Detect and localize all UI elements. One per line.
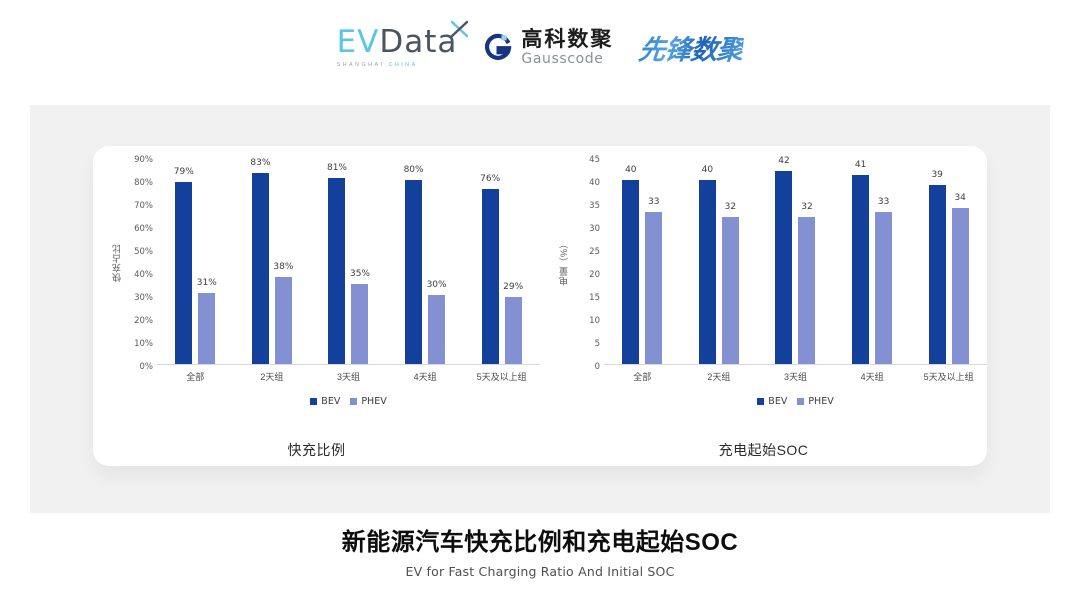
y-tick-label: 5 (595, 339, 600, 349)
bar-group: 3934 (910, 160, 987, 364)
footer-titles: 新能源汽车快充比例和充电起始SOC EV for Fast Charging R… (0, 528, 1080, 579)
bar-value-label: 33 (648, 197, 659, 207)
bar-group: 4133 (834, 160, 911, 364)
bar-bev[interactable]: 81% (328, 178, 345, 364)
legend-item-phev[interactable]: PHEV (797, 396, 833, 407)
x-tick-label: 2天组 (681, 370, 758, 383)
bar-value-label: 76% (480, 174, 500, 184)
bar-bev[interactable]: 42 (775, 171, 792, 364)
gausscode-en-text: Gausscode (521, 52, 613, 66)
bar-value-label: 29% (503, 282, 523, 292)
bar-value-label: 35% (350, 269, 370, 279)
legend-item-bev[interactable]: BEV (310, 396, 340, 407)
y-tick-label: 15 (589, 293, 600, 303)
bar-value-label: 40 (702, 165, 713, 175)
bar-group: 4232 (757, 160, 834, 364)
page-title: 新能源汽车快充比例和充电起始SOC (0, 528, 1080, 558)
bar-bev[interactable]: 83% (252, 173, 269, 364)
y-tick-label: 30 (589, 224, 600, 234)
bar-group: 79%31% (157, 160, 234, 364)
bar-value-label: 30% (427, 280, 447, 290)
bar-group: 80%30% (387, 160, 464, 364)
chart-caption-left: 快充比例 (93, 440, 540, 460)
bar-phev[interactable]: 34 (952, 208, 969, 364)
charts-row: 快充占比 0%10%20%30%40%50%60%70%80%90% 79%31… (93, 160, 987, 460)
bar-group: 81%35% (310, 160, 387, 364)
gausscode-mark-icon (483, 33, 513, 63)
y-axis-ticks-right: 051015202530354045 (570, 160, 604, 365)
evdata-ev-text: EV (337, 24, 380, 60)
bar-value-label: 81% (327, 163, 347, 173)
evdata-logo: EVData SHANGHAI CHINA (337, 27, 458, 69)
x-tick-label: 4天组 (387, 370, 464, 383)
bar-bev[interactable]: 40 (622, 180, 639, 364)
logo-bar: EVData SHANGHAI CHINA 高科数聚 Gausscode 先锋数… (0, 0, 1080, 95)
legend-right: BEVPHEV (540, 396, 987, 407)
x-tick-label: 2天组 (234, 370, 311, 383)
bar-group: 76%29% (463, 160, 540, 364)
bar-value-label: 80% (404, 165, 424, 175)
y-tick-label: 60% (134, 224, 153, 234)
y-tick-label: 0% (140, 362, 154, 372)
bar-phev[interactable]: 35% (351, 284, 368, 365)
gausscode-cn-text: 高科数聚 (521, 29, 613, 50)
bar-phev[interactable]: 29% (505, 297, 522, 364)
y-tick-label: 10 (589, 316, 600, 326)
legend-swatch-icon (350, 398, 357, 405)
bar-value-label: 41 (855, 160, 866, 170)
bar-phev[interactable]: 33 (645, 212, 662, 364)
y-tick-label: 30% (134, 293, 153, 303)
evdata-tagline-city: SHANGHAI (337, 62, 385, 68)
bar-value-label: 38% (273, 262, 293, 272)
y-axis-title-right: 电量（%） (556, 160, 570, 365)
bar-phev[interactable]: 33 (875, 212, 892, 364)
bar-value-label: 40 (625, 165, 636, 175)
evdata-tagline: SHANGHAI CHINA (337, 63, 418, 69)
legend-label: BEV (321, 396, 340, 407)
x-tick-label: 全部 (157, 370, 234, 383)
y-tick-label: 45 (589, 155, 600, 165)
chart-initial-soc: 电量（%） 051015202530354045 403340324232413… (540, 160, 987, 460)
x-tick-label: 4天组 (834, 370, 911, 383)
x-tick-label: 全部 (604, 370, 681, 383)
y-tick-label: 20% (134, 316, 153, 326)
y-axis-ticks-left: 0%10%20%30%40%50%60%70%80%90% (123, 160, 157, 365)
plot-area-wrapper-left: 快充占比 0%10%20%30%40%50%60%70%80%90% 79%31… (93, 160, 540, 365)
x-tick-label: 5天及以上组 (910, 370, 987, 383)
x-axis-labels-left: 全部2天组3天组4天组5天及以上组 (93, 370, 540, 383)
bar-value-label: 32 (725, 202, 736, 212)
bar-value-label: 79% (174, 167, 194, 177)
chart-fast-charging-ratio: 快充占比 0%10%20%30%40%50%60%70%80%90% 79%31… (93, 160, 540, 460)
bar-value-label: 33 (878, 197, 889, 207)
bar-bev[interactable]: 40 (699, 180, 716, 364)
bar-phev[interactable]: 32 (722, 217, 739, 364)
x-tick-label: 3天组 (757, 370, 834, 383)
bar-groups-left: 79%31%83%38%81%35%80%30%76%29% (157, 160, 540, 364)
legend-swatch-icon (757, 398, 764, 405)
evdata-data-text: Data (379, 24, 457, 60)
legend-swatch-icon (310, 398, 317, 405)
bar-group: 4032 (681, 160, 758, 364)
legend-label: PHEV (808, 396, 833, 407)
bar-bev[interactable]: 79% (175, 182, 192, 364)
bar-value-label: 34 (954, 193, 965, 203)
y-tick-label: 50% (134, 247, 153, 257)
y-tick-label: 0 (595, 362, 600, 372)
page-subtitle: EV for Fast Charging Ratio And Initial S… (0, 564, 1080, 579)
x-tick-label: 3天组 (310, 370, 387, 383)
x-cross-icon (450, 19, 470, 39)
plot-left: 79%31%83%38%81%35%80%30%76%29% (157, 160, 540, 365)
y-tick-label: 80% (134, 178, 153, 188)
bar-bev[interactable]: 39 (929, 185, 946, 364)
evdata-tagline-country: CHINA (388, 62, 417, 68)
bar-bev[interactable]: 76% (482, 189, 499, 364)
plot-right: 40334032423241333934 (604, 160, 987, 365)
y-tick-label: 20 (589, 270, 600, 280)
legend-swatch-icon (797, 398, 804, 405)
gausscode-logo: 高科数聚 Gausscode (483, 29, 613, 66)
x-tick-label: 5天及以上组 (463, 370, 540, 383)
legend-item-bev[interactable]: BEV (757, 396, 787, 407)
legend-label: PHEV (361, 396, 386, 407)
y-tick-label: 25 (589, 247, 600, 257)
y-axis-title-left: 快充占比 (109, 160, 123, 365)
legend-item-phev[interactable]: PHEV (350, 396, 386, 407)
y-tick-label: 35 (589, 201, 600, 211)
bar-phev[interactable]: 30% (428, 295, 445, 364)
bar-group: 83%38% (234, 160, 311, 364)
y-tick-label: 10% (134, 339, 153, 349)
evdata-wordmark: EVData (337, 27, 458, 58)
bar-group: 4033 (604, 160, 681, 364)
bar-phev[interactable]: 38% (275, 277, 292, 364)
y-tick-label: 40% (134, 270, 153, 280)
y-tick-label: 90% (134, 155, 153, 165)
plot-area-wrapper-right: 电量（%） 051015202530354045 403340324232413… (540, 160, 987, 365)
bar-value-label: 83% (250, 158, 270, 168)
bar-phev[interactable]: 31% (198, 293, 215, 364)
chart-caption-right: 充电起始SOC (540, 440, 987, 460)
legend-label: BEV (768, 396, 787, 407)
xianfeng-logo: 先锋数聚 (637, 28, 745, 67)
bar-value-label: 32 (801, 202, 812, 212)
bar-groups-right: 40334032423241333934 (604, 160, 987, 364)
bar-value-label: 42 (778, 156, 789, 166)
bar-value-label: 31% (197, 278, 217, 288)
bar-bev[interactable]: 41 (852, 175, 869, 364)
x-axis-labels-right: 全部2天组3天组4天组5天及以上组 (540, 370, 987, 383)
bar-phev[interactable]: 32 (798, 217, 815, 364)
y-tick-label: 70% (134, 201, 153, 211)
bar-value-label: 39 (931, 170, 942, 180)
legend-left: BEVPHEV (93, 396, 540, 407)
y-tick-label: 40 (589, 178, 600, 188)
bar-bev[interactable]: 80% (405, 180, 422, 364)
